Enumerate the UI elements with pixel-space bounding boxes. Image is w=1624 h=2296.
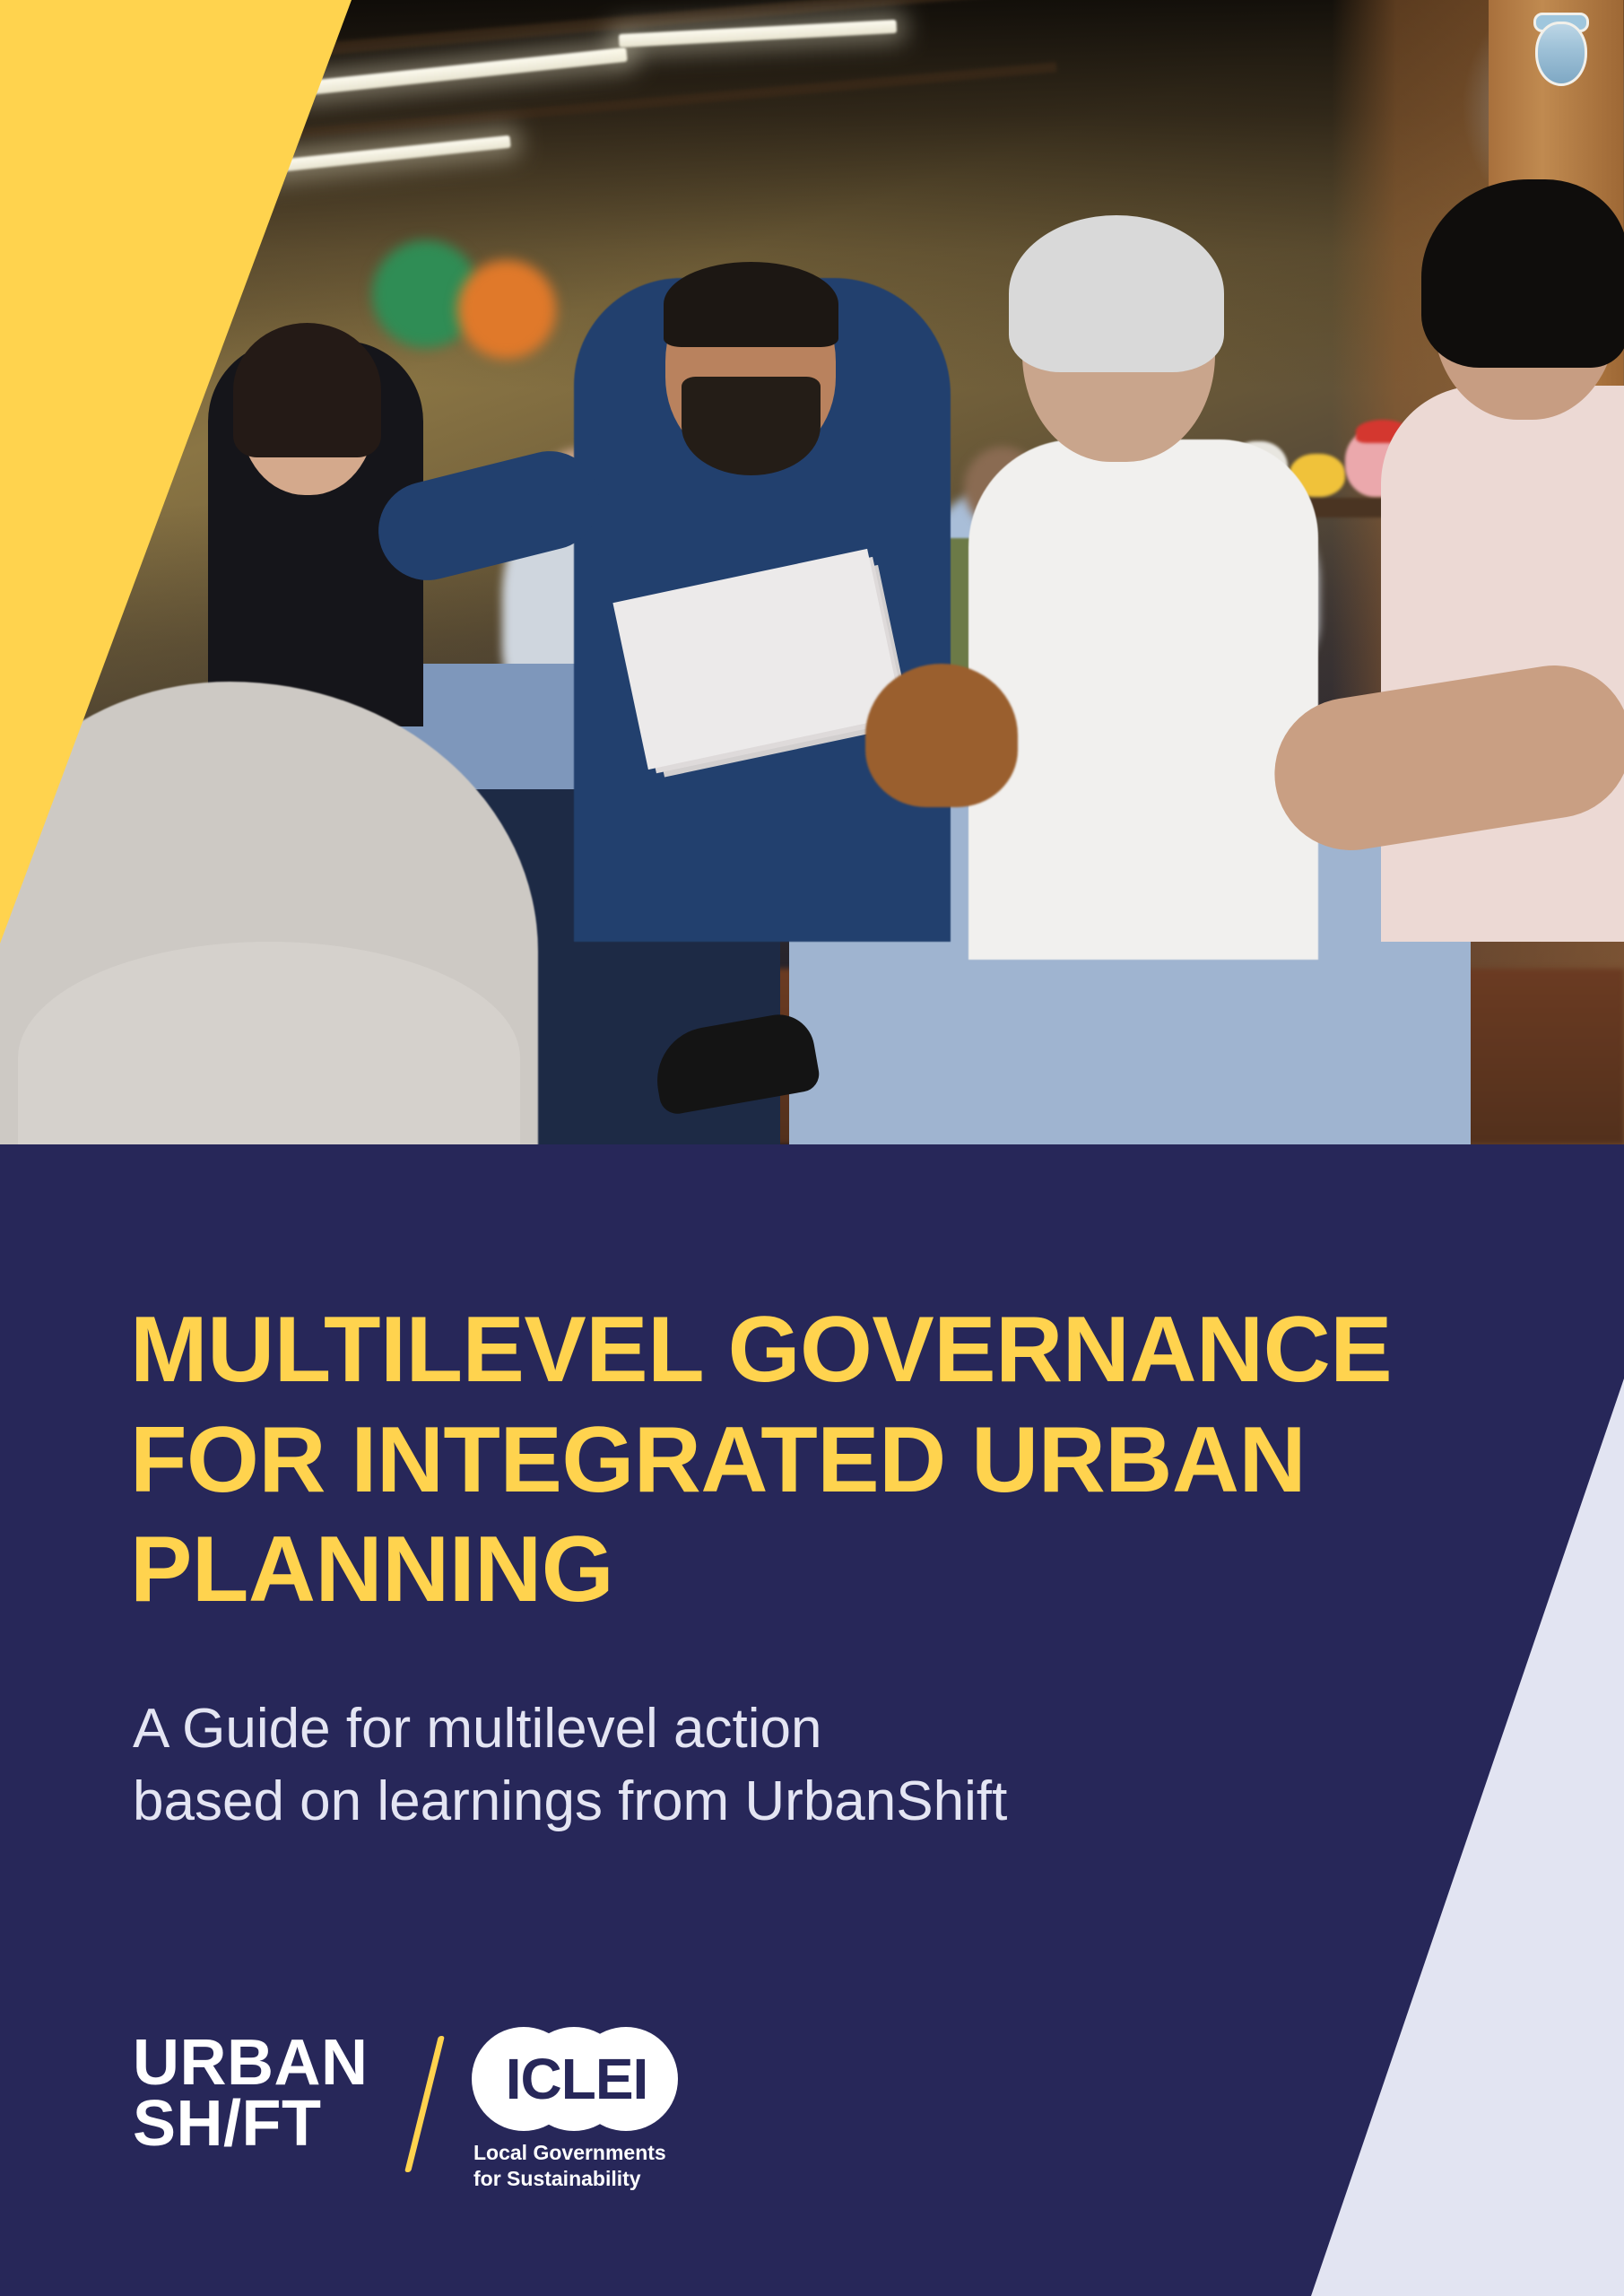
cover-photo [0, 0, 1624, 1144]
iclei-logo: ICLEI Local Governments for Sustainabili… [472, 2027, 678, 2197]
iclei-tagline: Local Governments for Sustainability [473, 2140, 678, 2193]
participant-center-hair [1009, 215, 1224, 372]
participant-right-body [1381, 386, 1624, 942]
iclei-circles-icon: ICLEI [472, 2027, 678, 2135]
page-title: MULTILEVEL GOVERNANCE FOR INTEGRATED URB… [130, 1295, 1493, 1625]
coat-of-arms-icon [1535, 22, 1587, 86]
background-person [457, 260, 556, 359]
participant-right-hair [1421, 179, 1624, 368]
urbanshift-logo: URBAN SH/FT [133, 2032, 368, 2155]
participant-left-hair [233, 323, 381, 457]
speaker-beard [682, 377, 821, 475]
iclei-wordmark: ICLEI [491, 2050, 662, 2108]
speaker-hair [664, 262, 838, 347]
cover-page: MULTILEVEL GOVERNANCE FOR INTEGRATED URB… [0, 0, 1624, 2296]
cover-content-panel: MULTILEVEL GOVERNANCE FOR INTEGRATED URB… [0, 1144, 1624, 2296]
page-subtitle: A Guide for multilevel action based on l… [133, 1693, 1343, 1838]
logo-separator-slash-icon [404, 2036, 445, 2172]
participant-center-body [968, 439, 1318, 960]
leather-bag [865, 664, 1018, 807]
